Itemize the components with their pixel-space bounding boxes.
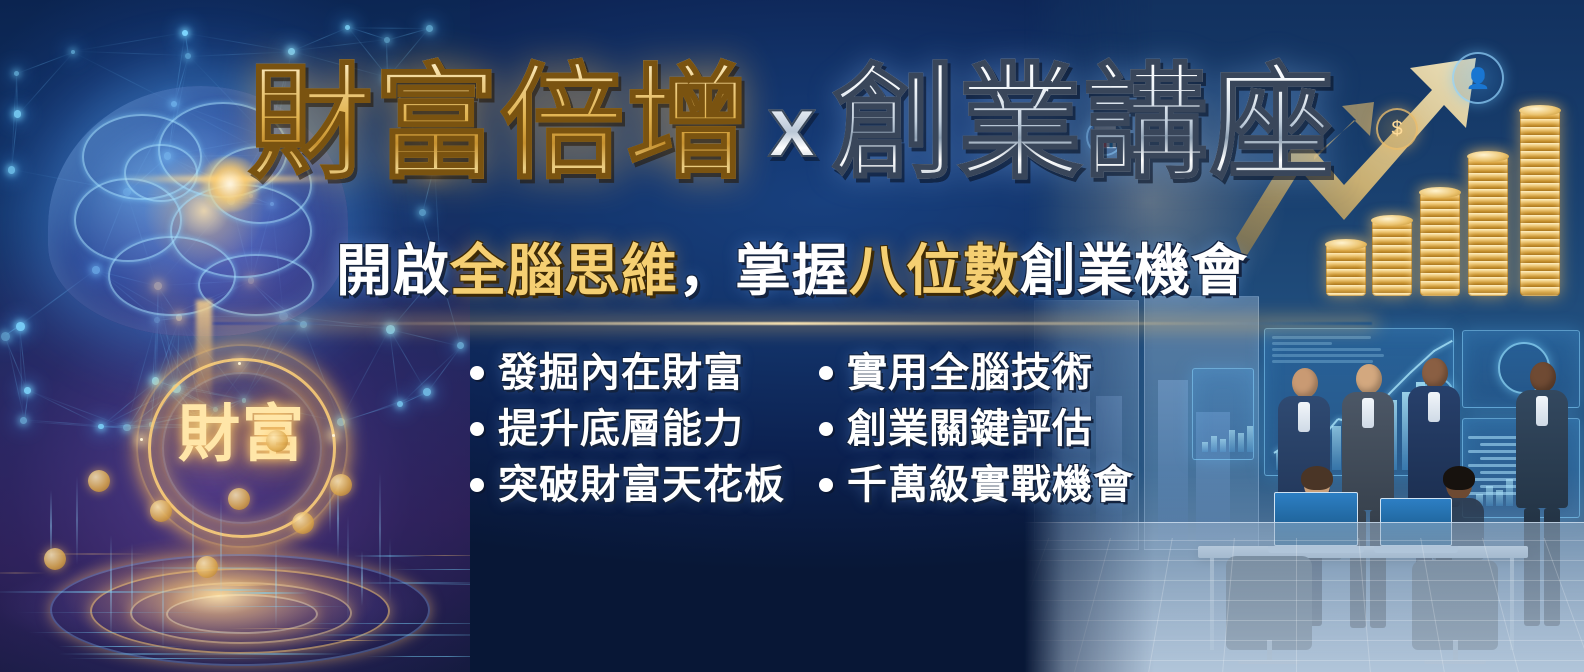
bullet-dot-icon <box>470 422 484 436</box>
bullet-label: 實用全腦技術 <box>847 352 1093 394</box>
bullet-label: 創業關鍵評估 <box>847 408 1093 450</box>
title-part-wealth: 財富倍增 <box>248 55 752 193</box>
promotional-banner: 財富 <box>0 0 1584 672</box>
gold-divider-line <box>212 322 1372 325</box>
bullet-column-right: 實用全腦技術 創業關鍵評估 千萬級實戰機會 <box>819 352 1134 506</box>
list-item: 突破財富天花板 <box>470 464 785 506</box>
bullet-dot-icon <box>819 478 833 492</box>
list-item: 千萬級實戰機會 <box>819 464 1134 506</box>
banner-title: 財富倍增x創業講座 <box>0 62 1584 186</box>
bullet-dot-icon <box>819 422 833 436</box>
bullet-label: 突破財富天花板 <box>498 464 785 506</box>
bullet-label: 千萬級實戰機會 <box>847 464 1134 506</box>
title-part-seminar: 創業講座 <box>832 55 1336 193</box>
banner-text-content: 財富倍增x創業講座 開啟全腦思維，掌握八位數創業機會 發掘內在財富 提升底層能力… <box>0 0 1584 672</box>
bullet-column-left: 發掘內在財富 提升底層能力 突破財富天花板 <box>470 352 785 506</box>
title-separator-x: x <box>768 79 816 175</box>
subtitle-seg-4: 八位數 <box>849 239 1020 302</box>
list-item: 發掘內在財富 <box>470 352 785 394</box>
bullet-dot-icon <box>470 366 484 380</box>
bullet-label: 發掘內在財富 <box>498 352 744 394</box>
subtitle-seg-2: 全腦思維 <box>450 239 678 302</box>
banner-subtitle: 開啟全腦思維，掌握八位數創業機會 <box>0 240 1584 303</box>
bullet-dot-icon <box>470 478 484 492</box>
list-item: 實用全腦技術 <box>819 352 1134 394</box>
bullet-label: 提升底層能力 <box>498 408 744 450</box>
subtitle-seg-1: 開啟 <box>336 239 450 302</box>
feature-bullet-lists: 發掘內在財富 提升底層能力 突破財富天花板 實用全腦技術 創 <box>470 352 1130 506</box>
list-item: 提升底層能力 <box>470 408 785 450</box>
bullet-dot-icon <box>819 366 833 380</box>
subtitle-seg-5: 創業機會 <box>1020 239 1248 302</box>
list-item: 創業關鍵評估 <box>819 408 1134 450</box>
subtitle-seg-3: ，掌握 <box>678 239 849 302</box>
